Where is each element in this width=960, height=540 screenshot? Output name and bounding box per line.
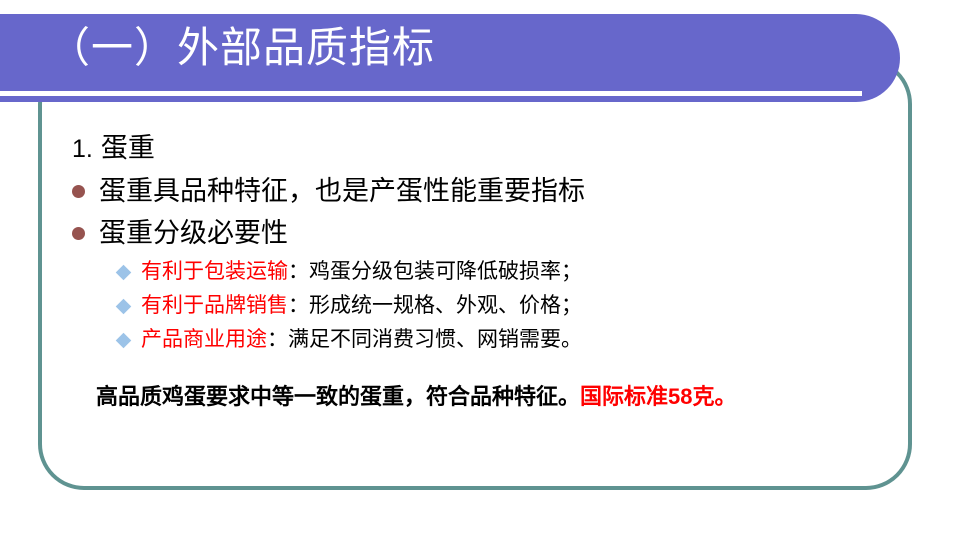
dot-bullet-icon: [72, 185, 85, 198]
sub-list-item: 有利于品牌销售：形成统一规格、外观、价格；: [68, 289, 898, 322]
dot-bullet-icon: [72, 227, 85, 240]
diamond-bullet-icon: [116, 299, 132, 315]
title-underline-rule: [0, 91, 862, 96]
numbered-list-item: 1.蛋重: [72, 128, 898, 169]
sub-list-item-detail: ：满足不同消费习惯、网销需要。: [267, 327, 582, 351]
list-item-label: 蛋重具品种特征，也是产蛋性能重要指标: [99, 171, 585, 211]
sub-list-item-highlight: 产品商业用途: [141, 327, 267, 351]
sub-list-item-label: 有利于包装运输：鸡蛋分级包装可降低破损率；: [141, 255, 582, 288]
summary-statement: 高品质鸡蛋要求中等一致的蛋重，符合品种特征。国际标准58克。: [96, 380, 886, 414]
diamond-bullet-icon: [116, 265, 132, 281]
list-item-label: 蛋重分级必要性: [99, 213, 288, 253]
summary-black-text: 高品质鸡蛋要求中等一致的蛋重，符合品种特征。: [96, 384, 580, 409]
sub-list-item-detail: ：形成统一规格、外观、价格；: [288, 293, 582, 317]
summary-red-text: 国际标准58克。: [580, 384, 736, 409]
page-title: （一）外部品质指标: [48, 18, 828, 80]
sub-list-item: 产品商业用途：满足不同消费习惯、网销需要。: [68, 323, 898, 356]
list-item: 蛋重具品种特征，也是产蛋性能重要指标: [68, 171, 898, 211]
sub-list-item: 有利于包装运输：鸡蛋分级包装可降低破损率；: [68, 255, 898, 288]
diamond-bullet-icon: [116, 333, 132, 349]
sub-list-item-label: 产品商业用途：满足不同消费习惯、网销需要。: [141, 323, 582, 356]
sub-list-item-highlight: 有利于品牌销售: [141, 293, 288, 317]
body-content: 1.蛋重 蛋重具品种特征，也是产蛋性能重要指标 蛋重分级必要性 有利于包装运输：…: [68, 128, 898, 357]
numbered-list-item-label: 蛋重: [101, 133, 155, 163]
numbered-list-item-number: 1.: [72, 135, 93, 163]
list-item: 蛋重分级必要性: [68, 213, 898, 253]
sub-list-item-label: 有利于品牌销售：形成统一规格、外观、价格；: [141, 289, 582, 322]
sub-list-item-highlight: 有利于包装运输: [141, 259, 288, 283]
sub-list-item-detail: ：鸡蛋分级包装可降低破损率；: [288, 259, 582, 283]
slide-canvas: （一）外部品质指标 1.蛋重 蛋重具品种特征，也是产蛋性能重要指标 蛋重分级必要…: [0, 0, 960, 540]
